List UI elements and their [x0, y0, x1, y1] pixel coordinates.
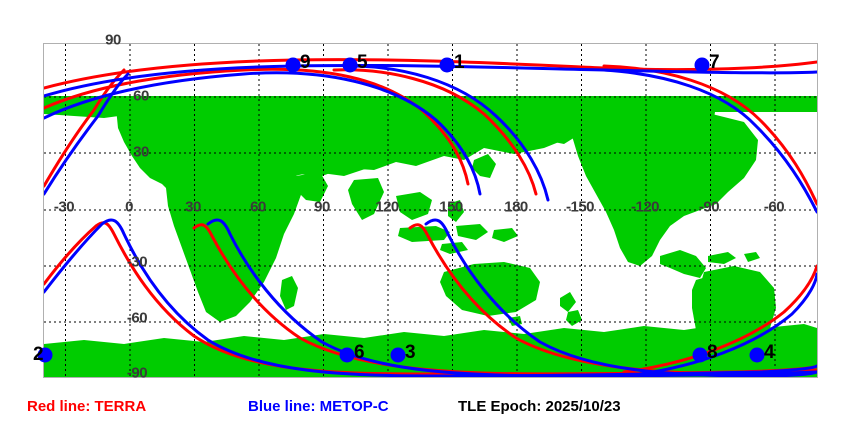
lon-tick-120: 120	[375, 199, 399, 216]
legend-red-line: Red line: TERRA	[27, 398, 146, 415]
lon-tick-neg30: -30	[54, 199, 74, 216]
lat-tick-90: 90	[105, 32, 121, 49]
lon-tick-neg90: -90	[699, 199, 719, 216]
legend-tle-epoch: TLE Epoch: 2025/10/23	[458, 398, 621, 415]
legend-blue-line: Blue line: METOP-C	[248, 398, 389, 415]
sat-marker-label-4: 4	[764, 342, 775, 364]
sat-marker-label-2: 2	[33, 344, 44, 366]
lon-tick-neg150: -150	[566, 199, 594, 216]
sat-marker-label-8: 8	[707, 342, 718, 364]
sat-marker-5[interactable]	[343, 58, 358, 73]
sat-marker-3[interactable]	[391, 348, 406, 363]
legend-bar: Red line: TERRA Blue line: METOP-C TLE E…	[0, 392, 850, 425]
sat-marker-label-5: 5	[357, 52, 368, 74]
lon-tick-60: 60	[250, 199, 266, 216]
lon-tick-0: 0	[125, 199, 133, 216]
lon-tick-30: 30	[185, 199, 201, 216]
sat-marker-label-3: 3	[405, 342, 416, 364]
lon-tick-90: 90	[314, 199, 330, 216]
sat-marker-8[interactable]	[693, 348, 708, 363]
sat-marker-6[interactable]	[340, 348, 355, 363]
lat-tick-neg90: -90	[127, 365, 147, 382]
lon-tick-neg60: -60	[764, 199, 784, 216]
sat-marker-label-6: 6	[354, 342, 365, 364]
sat-marker-label-1: 1	[454, 52, 465, 74]
sat-marker-7[interactable]	[695, 58, 710, 73]
lon-tick-150: 150	[439, 199, 463, 216]
ground-track-map-page: 90 60 30 -30 -60 -90 -30 0 30 60 90 120 …	[0, 0, 850, 425]
sat-marker-label-9: 9	[300, 52, 311, 74]
sat-marker-label-7: 7	[709, 52, 720, 74]
lat-tick-neg60: -60	[127, 310, 147, 327]
sat-marker-4[interactable]	[750, 348, 765, 363]
lat-tick-neg30: -30	[127, 254, 147, 271]
sat-marker-1[interactable]	[440, 58, 455, 73]
sat-marker-9[interactable]	[286, 58, 301, 73]
lon-tick-neg120: -120	[631, 199, 659, 216]
lat-tick-30: 30	[133, 144, 149, 161]
lat-tick-60: 60	[133, 88, 149, 105]
lon-tick-180: 180	[504, 199, 528, 216]
